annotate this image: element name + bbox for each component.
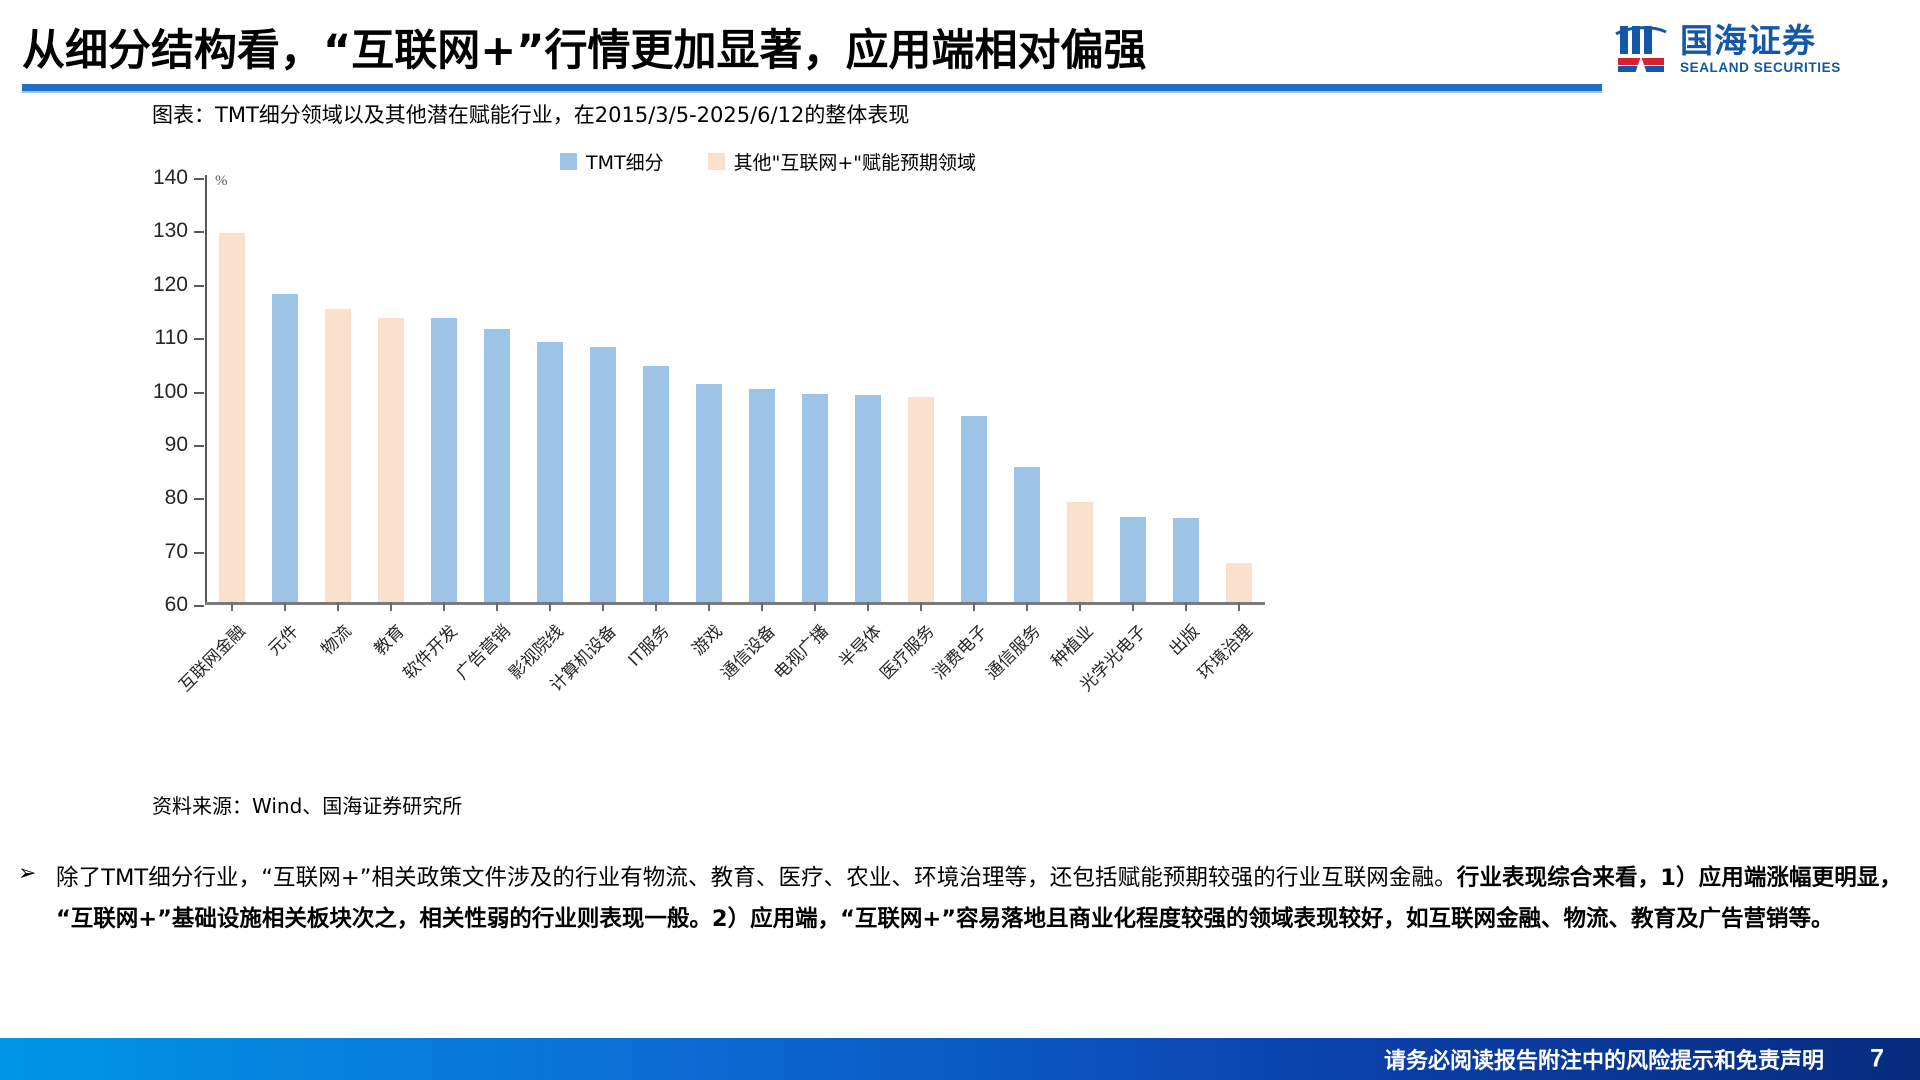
footer-disclaimer: 请务必阅读报告附注中的风险提示和免责声明 bbox=[1384, 1043, 1824, 1075]
legend-label-0: TMT细分 bbox=[586, 148, 664, 175]
bar[interactable] bbox=[749, 389, 775, 603]
page-number: 7 bbox=[1870, 1045, 1884, 1074]
x-tick-12 bbox=[867, 602, 869, 611]
bullet-arrow-icon: ➢ bbox=[18, 861, 36, 886]
x-axis-label: 软件开发 bbox=[395, 618, 461, 684]
x-axis-label: 出版 bbox=[1161, 618, 1203, 660]
title-divider bbox=[22, 84, 1602, 91]
y-tick-70 bbox=[194, 552, 204, 554]
y-tick-label-130: 130 bbox=[153, 219, 188, 243]
bar-slot-10: 通信设备 bbox=[735, 175, 788, 602]
bar-slot-17: 光学光电子 bbox=[1106, 175, 1159, 602]
logo-text: 国海证券 SEALAND SECURITIES bbox=[1680, 24, 1841, 75]
bar-slot-9: 游戏 bbox=[682, 175, 735, 602]
bar-slot-12: 半导体 bbox=[841, 175, 894, 602]
bar[interactable] bbox=[908, 397, 934, 602]
bar-slot-14: 消费电子 bbox=[947, 175, 1000, 602]
x-tick-0 bbox=[231, 602, 233, 611]
x-tick-11 bbox=[814, 602, 816, 611]
bar-slot-19: 环境治理 bbox=[1212, 175, 1265, 602]
y-tick-100 bbox=[194, 392, 204, 394]
bar[interactable] bbox=[431, 318, 457, 602]
bullet-block: ➢ 除了TMT细分行业，“互联网+”相关政策文件涉及的行业有物流、教育、医疗、农… bbox=[18, 858, 1902, 940]
bar[interactable] bbox=[855, 395, 881, 602]
bar[interactable] bbox=[325, 309, 351, 602]
x-tick-8 bbox=[655, 602, 657, 611]
x-axis-line bbox=[205, 602, 1265, 605]
logo-chinese-name: 国海证券 bbox=[1680, 24, 1841, 57]
bar-slot-3: 教育 bbox=[364, 175, 417, 602]
chart-caption: 图表：TMT细分领域以及其他潜在赋能行业，在2015/3/5-2025/6/12… bbox=[152, 99, 909, 129]
x-axis-label: 教育 bbox=[366, 618, 408, 660]
bar-chart: TMT细分其他"互联网+"赋能预期领域 % 607080901001101201… bbox=[150, 140, 1260, 780]
y-tick-120 bbox=[194, 285, 204, 287]
bar[interactable] bbox=[696, 384, 722, 602]
slide-footer: 请务必阅读报告附注中的风险提示和免责声明 7 bbox=[0, 1038, 1920, 1080]
plot-area: % 60708090100110120130140 互联网金融元件物流教育软件开… bbox=[205, 175, 1265, 605]
bar[interactable] bbox=[1120, 517, 1146, 602]
x-axis-label: 医疗服务 bbox=[872, 618, 938, 684]
legend-label-1: 其他"互联网+"赋能预期领域 bbox=[734, 148, 976, 175]
bar[interactable] bbox=[802, 394, 828, 602]
bar-slot-11: 电视广播 bbox=[788, 175, 841, 602]
y-tick-label-120: 120 bbox=[153, 273, 188, 297]
bar[interactable] bbox=[643, 366, 669, 602]
x-tick-16 bbox=[1079, 602, 1081, 611]
y-tick-90 bbox=[194, 445, 204, 447]
bar[interactable] bbox=[1173, 518, 1199, 602]
y-tick-80 bbox=[194, 498, 204, 500]
x-axis-label: 互联网金融 bbox=[171, 618, 249, 696]
bullet-plain-text: 除了TMT细分行业，“互联网+”相关政策文件涉及的行业有物流、教育、医疗、农业、… bbox=[56, 865, 1457, 891]
bar[interactable] bbox=[537, 342, 563, 602]
y-tick-label-80: 80 bbox=[165, 486, 188, 510]
bar-slot-5: 广告营销 bbox=[470, 175, 523, 602]
bar[interactable] bbox=[219, 233, 245, 602]
chart-source: 资料来源：Wind、国海证券研究所 bbox=[152, 790, 462, 819]
legend-item-0[interactable]: TMT细分 bbox=[560, 148, 664, 175]
bar[interactable] bbox=[378, 318, 404, 602]
x-tick-10 bbox=[761, 602, 763, 611]
bar-slot-18: 出版 bbox=[1159, 175, 1212, 602]
x-tick-2 bbox=[337, 602, 339, 611]
bar-slot-4: 软件开发 bbox=[417, 175, 470, 602]
x-tick-15 bbox=[1026, 602, 1028, 611]
bar-slot-15: 通信服务 bbox=[1000, 175, 1053, 602]
sealand-logo-icon bbox=[1614, 20, 1670, 78]
x-axis-label: 物流 bbox=[313, 618, 355, 660]
x-tick-1 bbox=[284, 602, 286, 611]
y-tick-label-60: 60 bbox=[165, 593, 188, 617]
chart-legend: TMT细分其他"互联网+"赋能预期领域 bbox=[560, 148, 976, 175]
bar[interactable] bbox=[961, 416, 987, 602]
bar-slot-16: 种植业 bbox=[1053, 175, 1106, 602]
x-tick-3 bbox=[390, 602, 392, 611]
x-tick-7 bbox=[602, 602, 604, 611]
legend-item-1[interactable]: 其他"互联网+"赋能预期领域 bbox=[708, 148, 976, 175]
x-tick-5 bbox=[496, 602, 498, 611]
legend-swatch-1 bbox=[708, 153, 725, 170]
y-tick-label-100: 100 bbox=[153, 380, 188, 404]
bar-slot-0: 互联网金融 bbox=[205, 175, 258, 602]
x-axis-label: 元件 bbox=[260, 618, 302, 660]
x-axis-label: 环境治理 bbox=[1190, 618, 1256, 684]
bar[interactable] bbox=[590, 347, 616, 602]
bar-slot-2: 物流 bbox=[311, 175, 364, 602]
bar[interactable] bbox=[1067, 502, 1093, 602]
logo-english-name: SEALAND SECURITIES bbox=[1680, 61, 1841, 75]
x-tick-9 bbox=[708, 602, 710, 611]
bar[interactable] bbox=[1014, 467, 1040, 602]
y-tick-110 bbox=[194, 338, 204, 340]
y-tick-label-90: 90 bbox=[165, 433, 188, 457]
bar-slot-6: 影视院线 bbox=[523, 175, 576, 602]
y-tick-60 bbox=[194, 605, 204, 607]
bar[interactable] bbox=[484, 329, 510, 602]
page-title: 从细分结构看，“互联网+”行情更加显著，应用端相对偏强 bbox=[22, 16, 1147, 78]
company-logo: 国海证券 SEALAND SECURITIES bbox=[1614, 16, 1904, 82]
y-tick-label-70: 70 bbox=[165, 540, 188, 564]
x-axis-label: 通信设备 bbox=[713, 618, 779, 684]
x-axis-label: 广告营销 bbox=[448, 618, 514, 684]
y-tick-140 bbox=[194, 178, 204, 180]
y-tick-label-140: 140 bbox=[153, 166, 188, 190]
x-tick-4 bbox=[443, 602, 445, 611]
bullet-paragraph: 除了TMT细分行业，“互联网+”相关政策文件涉及的行业有物流、教育、医疗、农业、… bbox=[56, 858, 1902, 940]
y-tick-130 bbox=[194, 231, 204, 233]
x-tick-17 bbox=[1132, 602, 1134, 611]
x-axis-label: 消费电子 bbox=[925, 618, 991, 684]
x-tick-14 bbox=[973, 602, 975, 611]
x-axis-label: 游戏 bbox=[684, 618, 726, 660]
y-tick-label-110: 110 bbox=[155, 326, 188, 350]
x-axis-label: 通信服务 bbox=[978, 618, 1044, 684]
bar-slot-1: 元件 bbox=[258, 175, 311, 602]
bar-slot-13: 医疗服务 bbox=[894, 175, 947, 602]
x-tick-19 bbox=[1238, 602, 1240, 611]
x-axis-label: IT服务 bbox=[621, 618, 674, 671]
bar[interactable] bbox=[1226, 563, 1252, 602]
bar[interactable] bbox=[272, 294, 298, 603]
legend-swatch-0 bbox=[560, 153, 577, 170]
x-tick-18 bbox=[1185, 602, 1187, 611]
x-axis-label: 电视广播 bbox=[766, 618, 832, 684]
bar-slot-7: 计算机设备 bbox=[576, 175, 629, 602]
x-tick-13 bbox=[920, 602, 922, 611]
bar-slot-8: IT服务 bbox=[629, 175, 682, 602]
x-tick-6 bbox=[549, 602, 551, 611]
title-divider-thin bbox=[22, 91, 1602, 93]
bar-series: 互联网金融元件物流教育软件开发广告营销影视院线计算机设备IT服务游戏通信设备电视… bbox=[205, 175, 1265, 602]
